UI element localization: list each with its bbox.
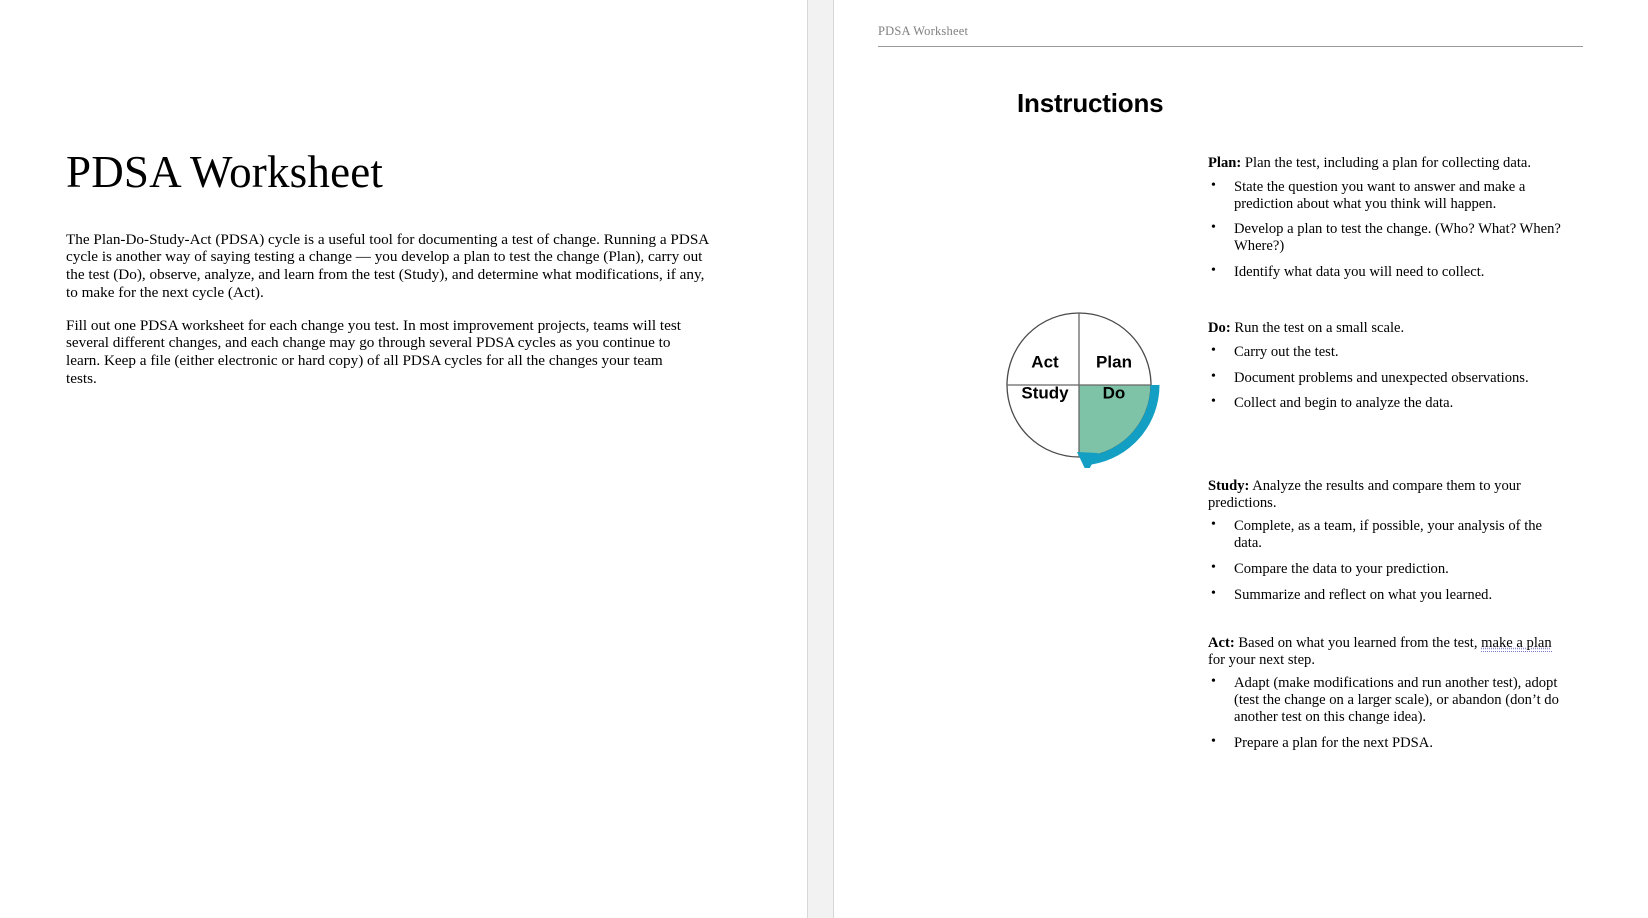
list-item: Document problems and unexpected observa… [1208,370,1568,387]
list-item: Prepare a plan for the next PDSA. [1208,735,1568,752]
list-item: State the question you want to answer an… [1208,179,1568,213]
step-bullets-study: Complete, as a team, if possible, your a… [1208,518,1568,604]
list-item: Identify what data you will need to coll… [1208,264,1568,281]
intro-paragraph-1: The Plan-Do-Study-Act (PDSA) cycle is a … [66,231,711,302]
step-lead-label-do: Do: [1208,320,1231,336]
pdsa-wheel-do: Act Plan Study Do [995,303,1165,473]
pane-divider[interactable] [807,0,834,918]
step-lead-do: Do: Run the test on a small scale. [1208,320,1568,337]
list-item: Compare the data to your prediction. [1208,561,1568,578]
step-lead-text-plan: Plan the test, including a plan for coll… [1241,155,1531,171]
preview-header-label: PDSA Worksheet [878,24,968,38]
preview-sheet: PDSA Worksheet Instructions [834,0,1647,918]
step-lead-text-study: Analyze the results and compare them to … [1208,478,1521,511]
instructions-heading: Instructions [1017,88,1163,119]
list-item: Complete, as a team, if possible, your a… [1208,518,1568,552]
pdsa-text-plan: Plan: Plan the test, including a plan fo… [1208,155,1568,290]
step-lead-plan: Plan: Plan the test, including a plan fo… [1208,155,1568,172]
document-editor-pane[interactable]: PDSA Worksheet The Plan-Do-Study-Act (PD… [0,0,807,918]
app-root: PDSA Worksheet The Plan-Do-Study-Act (PD… [0,0,1648,918]
step-bullets-act: Adapt (make modifications and run anothe… [1208,675,1568,752]
step-lead-post-act: for your next step. [1208,652,1315,668]
step-lead-label-act: Act: [1208,635,1235,651]
document-body[interactable]: PDSA Worksheet The Plan-Do-Study-Act (PD… [66,0,726,388]
step-lead-label-study: Study: [1208,478,1249,494]
step-bullets-do: Carry out the test. Document problems an… [1208,344,1568,413]
list-item: Collect and begin to analyze the data. [1208,395,1568,412]
pdsa-text-act: Act: Based on what you learned from the … [1208,635,1568,761]
step-lead-study: Study: Analyze the results and compare t… [1208,478,1568,511]
pdsa-text-study: Study: Analyze the results and compare t… [1208,478,1568,613]
preview-header: PDSA Worksheet [878,22,1583,47]
step-lead-underlined-act: make a plan [1481,635,1552,652]
wheel-label-study: Study [1021,383,1069,402]
step-lead-label-plan: Plan: [1208,155,1241,171]
list-item: Develop a plan to test the change. (Who?… [1208,221,1568,255]
step-lead-pre-act: Based on what you learned from the test, [1235,635,1481,651]
wheel-label-plan: Plan [1096,352,1132,371]
pdsa-wheel-do-icon: Act Plan Study Do [995,303,1175,468]
wheel-label-act: Act [1031,352,1059,371]
step-lead-text-do: Run the test on a small scale. [1231,320,1404,336]
document-preview-pane[interactable]: PDSA Worksheet Instructions [834,0,1647,918]
step-lead-act: Act: Based on what you learned from the … [1208,635,1568,668]
step-bullets-plan: State the question you want to answer an… [1208,179,1568,282]
page-title: PDSA Worksheet [66,0,726,198]
list-item: Adapt (make modifications and run anothe… [1208,675,1568,726]
pdsa-text-do: Do: Run the test on a small scale. Carry… [1208,320,1568,421]
intro-paragraph-2: Fill out one PDSA worksheet for each cha… [66,317,681,388]
list-item: Carry out the test. [1208,344,1568,361]
wheel-label-do: Do [1103,383,1126,402]
list-item: Summarize and reflect on what you learne… [1208,587,1568,604]
